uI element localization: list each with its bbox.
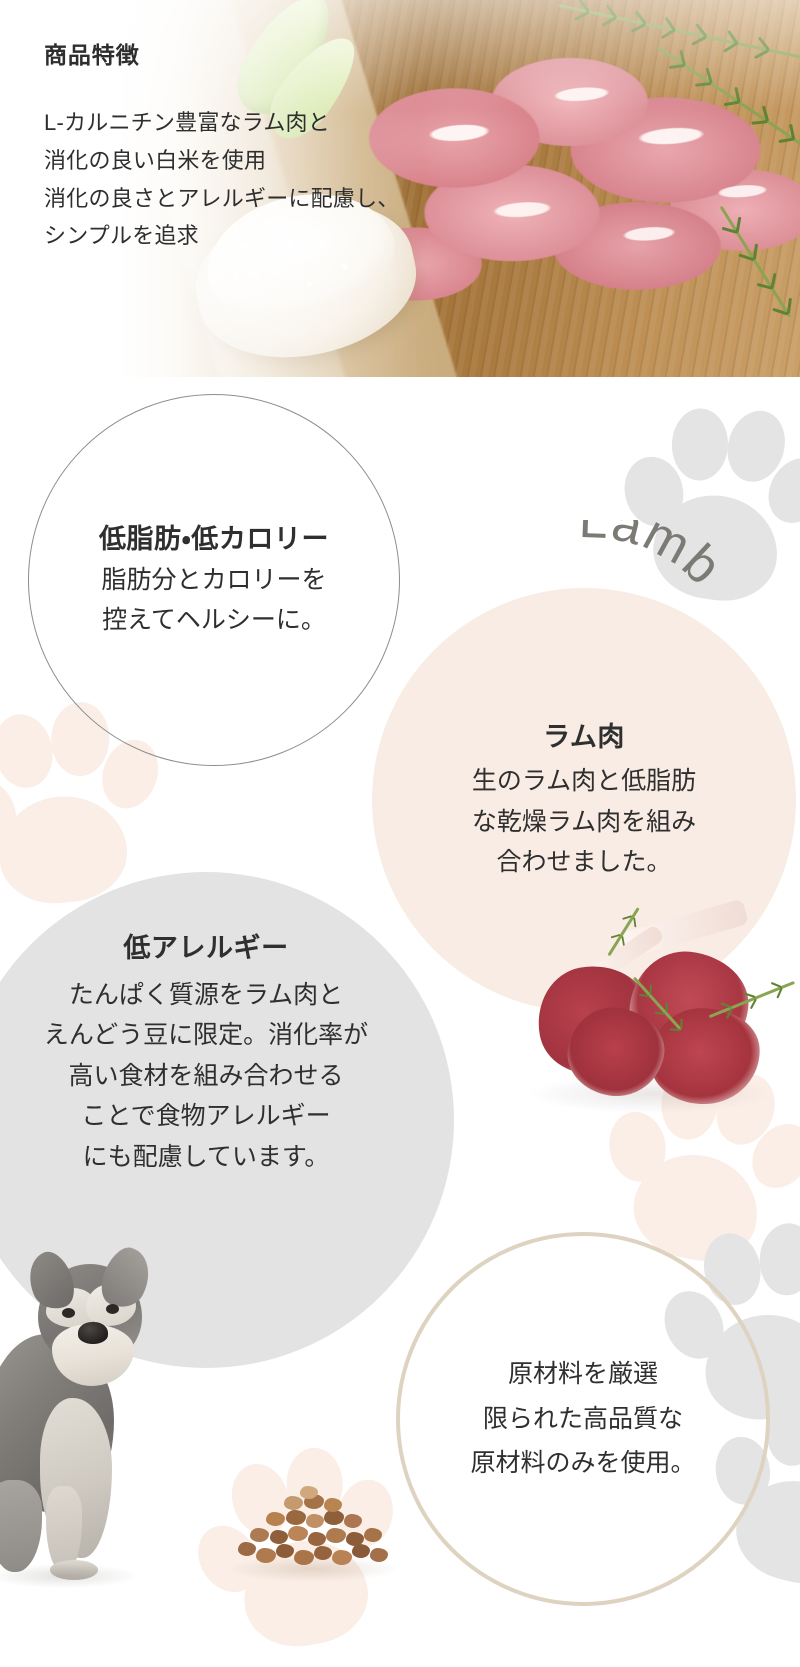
badge-low-allergy-line: えんどう豆に限定。消化率が	[44, 1015, 368, 1056]
dog-eye	[106, 1304, 119, 1314]
hero-text-block: 商品特徴 L-カルニチン豊富なラム肉と 消化の良い白米を使用 消化の良さとアレル…	[44, 36, 400, 255]
dog-nose	[78, 1322, 108, 1344]
hero-line: 消化の良い白米を使用	[44, 142, 400, 180]
kibble-pile-photo	[228, 1486, 398, 1586]
paw-print-gray-icon	[599, 390, 800, 614]
badge-lamb-title: ラム肉	[543, 717, 625, 759]
badge-low-allergy-line: にも配慮しています。	[83, 1137, 330, 1178]
badge-low-allergy-line: たんぱく質源をラム肉と	[69, 975, 343, 1016]
badge-low-fat-title: 低脂肪・低カロリー	[99, 519, 329, 560]
lamb-chops-photo	[510, 900, 800, 1130]
badge-low-allergy-line: ことで食物アレルギー	[81, 1096, 330, 1137]
badge-ingredients-line: 原材料のみを使用。	[470, 1441, 695, 1486]
badge-ingredients: 原材料を厳選 限られた高品質な 原材料のみを使用。	[396, 1232, 770, 1606]
badge-low-fat-line: 控えてヘルシーに。	[102, 600, 326, 641]
hero-description: L-カルニチン豊富なラム肉と 消化の良い白米を使用 消化の良さとアレルギーに配慮…	[44, 104, 400, 255]
product-feature-page: 商品特徴 L-カルニチン豊富なラム肉と 消化の良い白米を使用 消化の良さとアレル…	[0, 0, 800, 1600]
badge-lamb-line: 合わせました。	[496, 842, 671, 883]
badge-ingredients-line: 原材料を厳選	[508, 1352, 658, 1397]
hero-line: L-カルニチン豊富なラム肉と	[44, 104, 400, 142]
badge-lamb-line: な乾燥ラム肉を組み	[472, 802, 696, 843]
hero-line: 消化の良さとアレルギーに配慮し、	[44, 180, 400, 218]
badge-ingredients-line: 限られた高品質な	[483, 1397, 683, 1442]
badge-lamb-line: 生のラム肉と低脂肪	[472, 761, 696, 802]
badge-low-allergy-line: 高い食材を組み合わせる	[68, 1056, 343, 1097]
lamb-script-label: Lamb	[578, 520, 734, 597]
badge-low-fat: 低脂肪・低カロリー 脂肪分とカロリーを 控えてヘルシーに。	[28, 394, 400, 766]
dog-rear-leg	[0, 1480, 42, 1572]
page-title: 商品特徴	[44, 36, 400, 70]
dog-eye	[62, 1308, 75, 1318]
dog-photo	[0, 1248, 204, 1588]
hero-line: シンプルを追求	[44, 217, 400, 255]
badge-low-fat-line: 脂肪分とカロリーを	[101, 560, 326, 601]
badge-low-allergy-title: 低アレルギー	[123, 928, 288, 969]
dog-shadow	[0, 1564, 138, 1588]
